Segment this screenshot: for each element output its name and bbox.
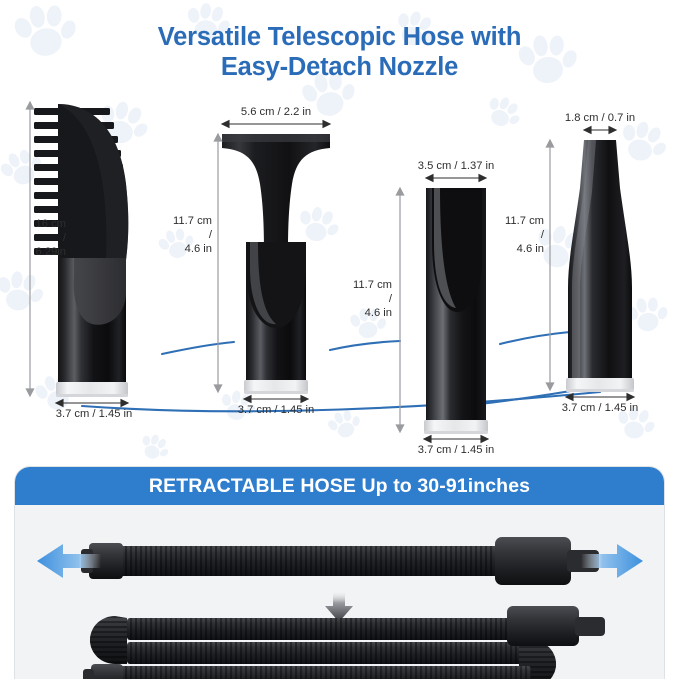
nozzle-lineup: 16 cm / 6.29in 3.7 cm / 1.45 in 5.6 cm /… [0, 92, 679, 452]
nozzle-3-height-dimension-line [396, 188, 403, 432]
nozzle-1-height-cm: 16 cm [6, 217, 66, 231]
nozzle-2-height-label: 11.7 cm / 4.6 in [152, 214, 212, 256]
retractable-hose-banner-text: RETRACTABLE HOSE Up to 30-91inches [149, 475, 530, 498]
nozzle-2-height-sep: / [152, 228, 212, 242]
nozzle-2-base-label: 3.7 cm / 1.45 in [212, 404, 340, 417]
retractable-hose-banner: RETRACTABLE HOSE Up to 30-91inches [15, 467, 664, 505]
nozzle-3-height-label: 11.7 cm / 4.6 in [332, 278, 392, 320]
nozzle-3-base-dimension-line [424, 436, 488, 443]
retractable-hose-body [15, 506, 664, 679]
nozzle-4-top-dimension-line [584, 127, 616, 134]
nozzle-1-height-label: 16 cm / 6.29in [6, 217, 66, 259]
nozzle-4-height-label: 11.7 cm / 4.6 in [484, 214, 544, 256]
nozzle-4-height-cm: 11.7 cm [484, 214, 544, 228]
nozzle-4-height-sep: / [484, 228, 544, 242]
page-title: Versatile Telescopic Hose with Easy-Deta… [0, 22, 679, 82]
nozzle-2-wide-flat-illustration [222, 134, 330, 394]
nozzle-3-height-cm: 11.7 cm [332, 278, 392, 292]
nozzle-3-top-label: 3.5 cm / 1.37 in [396, 160, 516, 173]
arrow-down-icon [325, 590, 353, 622]
nozzle-2-height-in: 4.6 in [152, 242, 212, 256]
nozzle-2-base-dimension-line [244, 396, 308, 403]
nozzle-2-top-label: 5.6 cm / 2.2 in [216, 106, 336, 119]
nozzle-3-height-in: 4.6 in [332, 306, 392, 320]
nozzle-4-height-in: 4.6 in [484, 242, 544, 256]
nozzle-2-height-dimension-line [214, 134, 221, 392]
coiled-hose [83, 606, 605, 679]
retractable-hose-illustration [15, 506, 664, 679]
retractable-hose-panel: RETRACTABLE HOSE Up to 30-91inches [14, 466, 665, 679]
nozzle-3-flat-slot-illustration [424, 188, 488, 434]
nozzle-1-height-sep: / [6, 231, 66, 245]
page-title-line-1: Versatile Telescopic Hose with [158, 23, 521, 51]
nozzle-4-round-taper-illustration [566, 140, 634, 392]
nozzle-3-base-label: 3.7 cm / 1.45 in [392, 444, 520, 457]
nozzle-4-top-label: 1.8 cm / 0.7 in [540, 112, 660, 125]
nozzle-2-top-dimension-line [222, 121, 330, 128]
nozzle-3-height-sep: / [332, 292, 392, 306]
nozzle-1-base-dimension-line [56, 400, 128, 407]
nozzle-1-height-in: 6.29in [6, 245, 66, 259]
infographic-canvas: Versatile Telescopic Hose with Easy-Deta… [0, 0, 679, 679]
nozzle-illustrations [0, 92, 679, 452]
arrow-right-icon [581, 544, 643, 578]
page-title-line-2: Easy-Detach Nozzle [0, 52, 679, 82]
extended-hose [81, 537, 599, 585]
nozzle-2-height-cm: 11.7 cm [152, 214, 212, 228]
nozzle-4-height-dimension-line [546, 140, 553, 390]
nozzle-1-base-label: 3.7 cm / 1.45 in [26, 408, 162, 421]
nozzle-4-base-label: 3.7 cm / 1.45 in [536, 402, 664, 415]
nozzle-3-top-dimension-line [426, 175, 486, 182]
